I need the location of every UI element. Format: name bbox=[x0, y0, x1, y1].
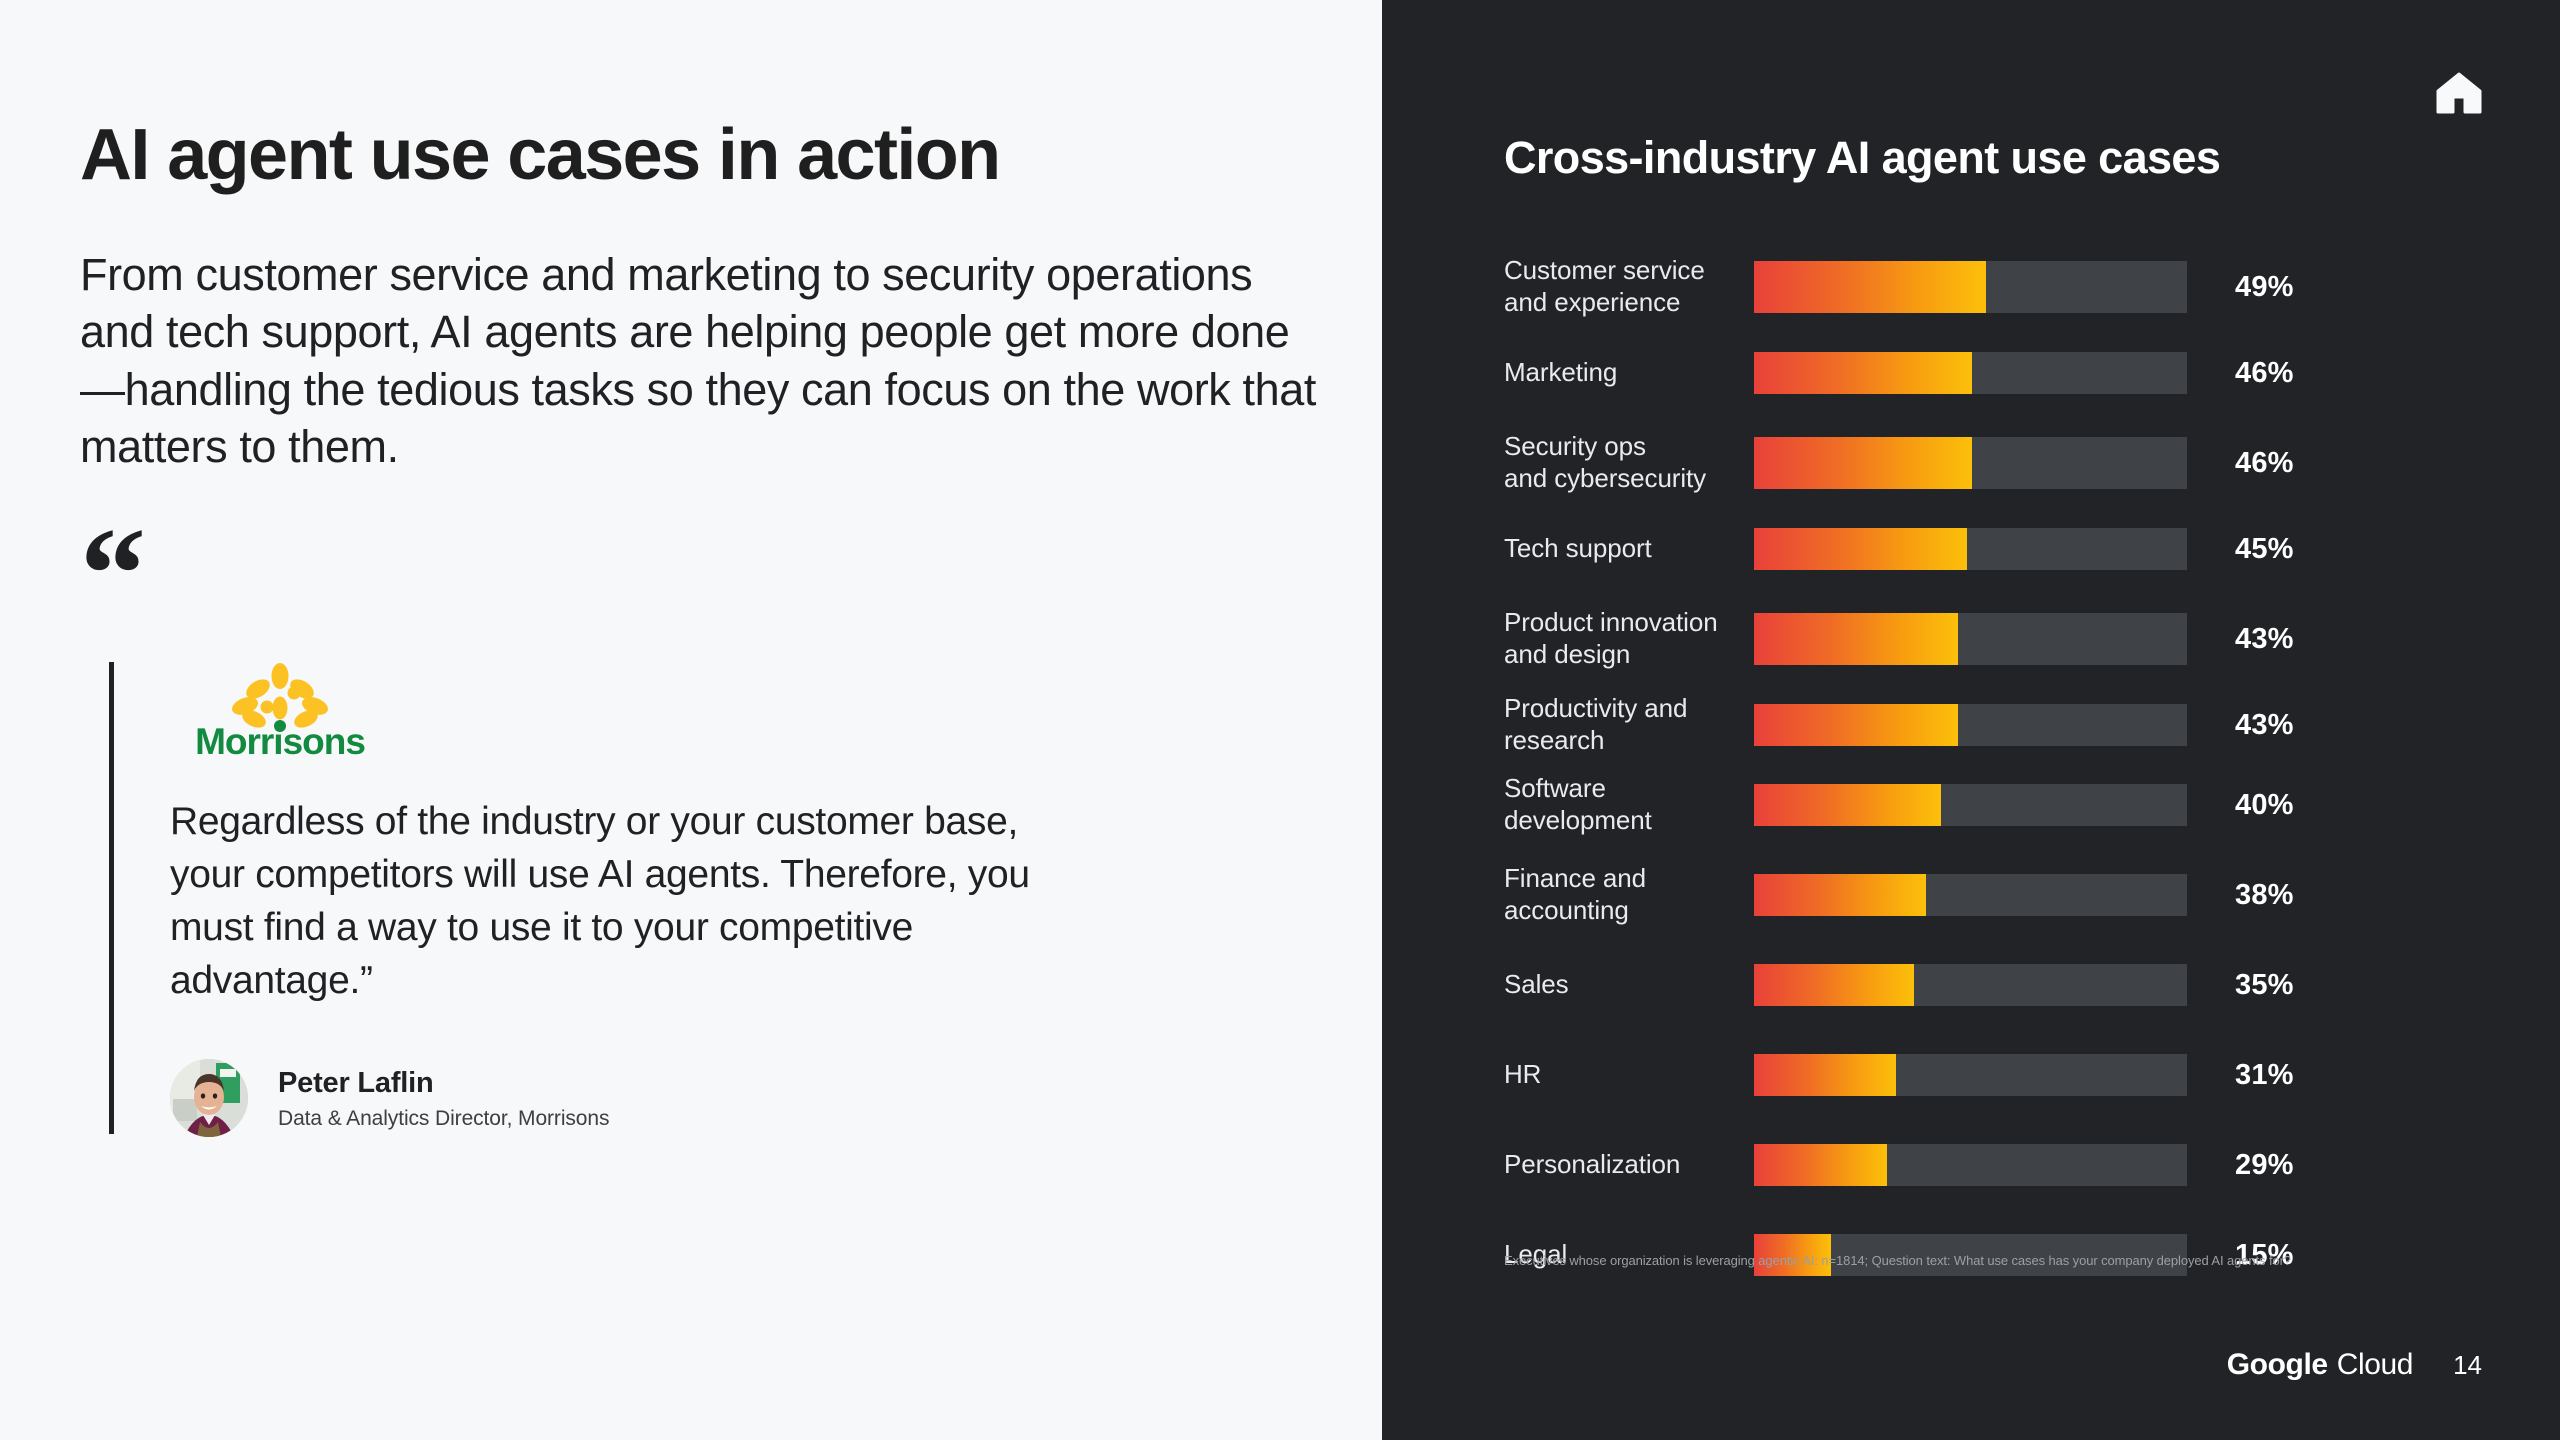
slide: AI agent use cases in action From custom… bbox=[0, 0, 2560, 1440]
chart-row: Productivity and research43% bbox=[1504, 694, 2464, 756]
bar-fill bbox=[1754, 352, 1972, 394]
page-title: AI agent use cases in action bbox=[80, 118, 1382, 194]
chart-row: Marketing46% bbox=[1504, 342, 2464, 404]
slide-footer: GoogleCloud 14 bbox=[2227, 1348, 2482, 1382]
bar-value: 31% bbox=[2235, 1059, 2294, 1092]
bar-fill bbox=[1754, 704, 1958, 746]
bar-label: Sales bbox=[1504, 969, 1754, 1001]
bar-track bbox=[1754, 613, 2187, 665]
bar-label: Security opsand cybersecurity bbox=[1504, 431, 1754, 494]
bar-track bbox=[1754, 261, 2187, 313]
bar-track bbox=[1754, 528, 2187, 570]
bar-value: 46% bbox=[2235, 357, 2294, 390]
quote-text: Regardless of the industry or your custo… bbox=[170, 795, 1070, 1007]
bar-chart: Customer serviceand experience49%Marketi… bbox=[1504, 246, 2464, 1314]
bar-fill bbox=[1754, 784, 1941, 826]
bar-fill bbox=[1754, 261, 1986, 313]
bar-label: Personalization bbox=[1504, 1149, 1754, 1181]
bar-label: Productivity and research bbox=[1504, 693, 1754, 756]
quote-block: Morrisons Regardless of the industry or … bbox=[80, 662, 1382, 1137]
bar-fill bbox=[1754, 874, 1926, 916]
morrisons-logo: Morrisons bbox=[170, 662, 390, 757]
chart-row: Finance and accounting38% bbox=[1504, 864, 2464, 926]
attribution-name: Peter Laflin bbox=[278, 1067, 609, 1100]
bar-value: 43% bbox=[2235, 709, 2294, 742]
bar-fill bbox=[1754, 1054, 1896, 1096]
bar-value: 38% bbox=[2235, 879, 2294, 912]
intro-paragraph: From customer service and marketing to s… bbox=[80, 246, 1330, 476]
bar-fill bbox=[1754, 1144, 1887, 1186]
bar-value: 29% bbox=[2235, 1149, 2294, 1182]
chart-row: Security opsand cybersecurity46% bbox=[1504, 422, 2464, 504]
bar-label: Product innovationand design bbox=[1504, 607, 1754, 670]
bar-label: Customer serviceand experience bbox=[1504, 255, 1754, 318]
bar-value: 35% bbox=[2235, 969, 2294, 1002]
home-icon[interactable] bbox=[2436, 72, 2482, 114]
google-cloud-logo: GoogleCloud bbox=[2227, 1348, 2413, 1382]
quote-attribution: Peter Laflin Data & Analytics Director, … bbox=[170, 1059, 1382, 1137]
left-panel: AI agent use cases in action From custom… bbox=[0, 0, 1382, 1440]
chart-row: Software development40% bbox=[1504, 774, 2464, 836]
bar-label: HR bbox=[1504, 1059, 1754, 1091]
avatar bbox=[170, 1059, 248, 1137]
bar-track bbox=[1754, 1054, 2187, 1096]
quote-accent-rule bbox=[109, 662, 114, 1134]
bar-value: 45% bbox=[2235, 533, 2294, 566]
bar-label: Finance and accounting bbox=[1504, 863, 1754, 926]
page-number: 14 bbox=[2453, 1350, 2482, 1381]
right-panel: Cross-industry AI agent use cases Custom… bbox=[1382, 0, 2560, 1440]
bar-track bbox=[1754, 704, 2187, 746]
bar-track bbox=[1754, 437, 2187, 489]
chart-row: HR31% bbox=[1504, 1044, 2464, 1106]
bar-fill bbox=[1754, 437, 1972, 489]
svg-text:Morrisons: Morrisons bbox=[195, 721, 365, 757]
bar-value: 46% bbox=[2235, 447, 2294, 480]
bar-track bbox=[1754, 784, 2187, 826]
chart-row: Customer serviceand experience49% bbox=[1504, 246, 2464, 328]
bar-value: 40% bbox=[2235, 789, 2294, 822]
bar-fill bbox=[1754, 964, 1914, 1006]
brand-cloud: Cloud bbox=[2337, 1348, 2413, 1381]
chart-footnote: Executives whose organization is leverag… bbox=[1504, 1253, 2444, 1268]
bar-label: Marketing bbox=[1504, 357, 1754, 389]
bar-label: Tech support bbox=[1504, 533, 1754, 565]
attribution-role: Data & Analytics Director, Morrisons bbox=[278, 1107, 609, 1131]
chart-row: Product innovationand design43% bbox=[1504, 598, 2464, 680]
quote-open-icon: “ bbox=[80, 538, 1382, 604]
chart-title: Cross-industry AI agent use cases bbox=[1504, 132, 2220, 184]
bar-track bbox=[1754, 964, 2187, 1006]
bar-label: Software development bbox=[1504, 773, 1754, 836]
chart-row: Tech support45% bbox=[1504, 518, 2464, 580]
attribution-text: Peter Laflin Data & Analytics Director, … bbox=[278, 1065, 609, 1131]
bar-fill bbox=[1754, 528, 1967, 570]
bar-track bbox=[1754, 352, 2187, 394]
bar-track bbox=[1754, 874, 2187, 916]
chart-row: Personalization29% bbox=[1504, 1134, 2464, 1196]
brand-google: Google bbox=[2227, 1348, 2328, 1381]
bar-track bbox=[1754, 1144, 2187, 1186]
bar-value: 49% bbox=[2235, 271, 2294, 304]
chart-row: Sales35% bbox=[1504, 954, 2464, 1016]
bar-value: 43% bbox=[2235, 623, 2294, 656]
bar-fill bbox=[1754, 613, 1958, 665]
